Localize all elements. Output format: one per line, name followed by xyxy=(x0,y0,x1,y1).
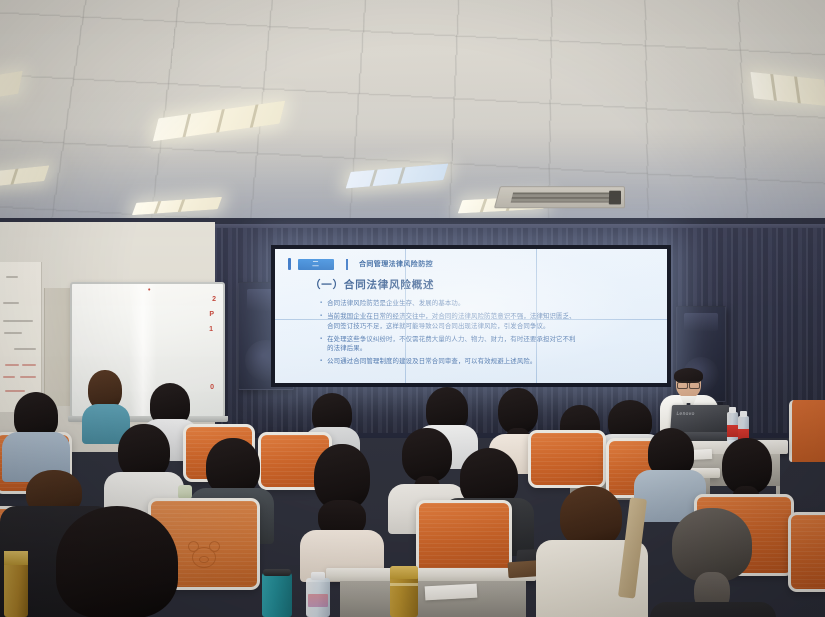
teal-tumbler[interactable] xyxy=(262,572,292,617)
bear-muzzle-icon xyxy=(199,556,209,563)
bullet-marker: ▪ xyxy=(320,312,322,331)
panel-seam xyxy=(275,319,667,320)
slide-bullet-list: ▪ 合同法律风险防范是企业生存、发展的基本功。 ▪ 当前我国企业在日常的经济交往… xyxy=(320,299,653,367)
panel-seam xyxy=(536,249,537,383)
slide-header-title: 合同管理法律风险防控 xyxy=(359,259,433,269)
thermos-cap xyxy=(390,566,418,579)
header-divider xyxy=(346,259,348,270)
seat-chair[interactable] xyxy=(528,430,606,488)
whiteboard-mark: 2 xyxy=(212,296,216,303)
speaker-horn xyxy=(684,313,719,332)
bullet-text: 当前我国企业在日常的经济交往中，对合同的法律风险防范意识不强，法律知识匮乏、 合… xyxy=(327,312,576,331)
bullet-text: 公司通过合同管理制度的建设及日常合同审查，可以有效规避上述风险。 xyxy=(327,357,536,367)
glasses-icon xyxy=(677,381,700,386)
bullet-text: 合同法律风险防范是企业生存、发展的基本功。 xyxy=(327,299,464,309)
slide-header: 二 合同管理法律风险防控 xyxy=(288,258,653,270)
bottle-label xyxy=(308,594,328,607)
conference-room-scene: 2 P 1 0 • 二 合同管理法律风险防控 （一）合同法律风险概述 ▪ xyxy=(0,0,825,617)
water-bottle[interactable] xyxy=(306,578,330,617)
bullet-marker: ▪ xyxy=(320,335,322,354)
header-accent-bar xyxy=(288,258,291,270)
ceiling xyxy=(0,0,825,248)
attendee-head xyxy=(402,428,452,482)
whiteboard-mark: 0 xyxy=(210,384,214,391)
bullet-marker: ▪ xyxy=(320,299,322,309)
seat-chair[interactable] xyxy=(788,512,825,592)
attendee-head xyxy=(56,506,178,617)
slide-bullet: ▪ 合同法律风险防范是企业生存、发展的基本功。 xyxy=(320,299,653,309)
panel-seam xyxy=(405,249,406,383)
attendee-head xyxy=(648,428,694,476)
chapter-badge: 二 xyxy=(298,259,334,270)
bottle-cap xyxy=(740,411,747,417)
bear-motif-icon xyxy=(186,541,222,571)
slide-bullet: ▪ 公司通过合同管理制度的建设及日常合同审查，可以有效规避上述风险。 xyxy=(320,357,653,367)
bullet-text: 在处理这些争议纠纷时，不仅需花费大量的人力、物力、财力，有时还要承担对它不利 的… xyxy=(327,335,576,354)
thermos-band xyxy=(390,583,418,586)
attendee-head xyxy=(672,508,752,582)
slide-bullet: ▪ 当前我国企业在日常的经济交往中，对合同的法律风险防范意识不强，法律知识匮乏、… xyxy=(320,312,653,331)
attendee-head xyxy=(560,486,622,548)
wall-side-chair[interactable] xyxy=(789,400,825,462)
attendee-torso xyxy=(650,602,776,617)
wall-poster xyxy=(0,262,42,412)
presentation-screen[interactable]: 二 合同管理法律风险防控 （一）合同法律风险概述 ▪ 合同法律风险防范是企业生存… xyxy=(275,249,667,383)
bullet-marker: ▪ xyxy=(320,357,322,367)
slide-section-title: （一）合同法律风险概述 xyxy=(310,277,653,292)
gold-thermos[interactable] xyxy=(4,551,28,617)
thermos-cap xyxy=(4,551,28,565)
air-conditioning-vent xyxy=(494,186,625,208)
notebook-paper xyxy=(425,584,478,601)
bottle-cap xyxy=(729,407,736,413)
bottle-cap xyxy=(311,572,325,580)
slide-content: 二 合同管理法律风险防控 （一）合同法律风险概述 ▪ 合同法律风险防范是企业生存… xyxy=(275,249,667,383)
slide-bullet: ▪ 在处理这些争议纠纷时，不仅需花费大量的人力、物力、财力，有时还要承担对它不利… xyxy=(320,335,653,354)
bottle-label xyxy=(727,425,738,437)
small-cup[interactable] xyxy=(178,485,192,499)
whiteboard-mark: 1 xyxy=(209,326,213,333)
attendee-desk xyxy=(326,568,536,581)
gold-thermos[interactable] xyxy=(390,566,418,617)
tumbler-lid xyxy=(263,569,291,576)
laptop-brand-label: Lenovo xyxy=(676,411,695,417)
whiteboard-dot: • xyxy=(148,287,150,294)
whiteboard-mark: P xyxy=(209,311,214,318)
